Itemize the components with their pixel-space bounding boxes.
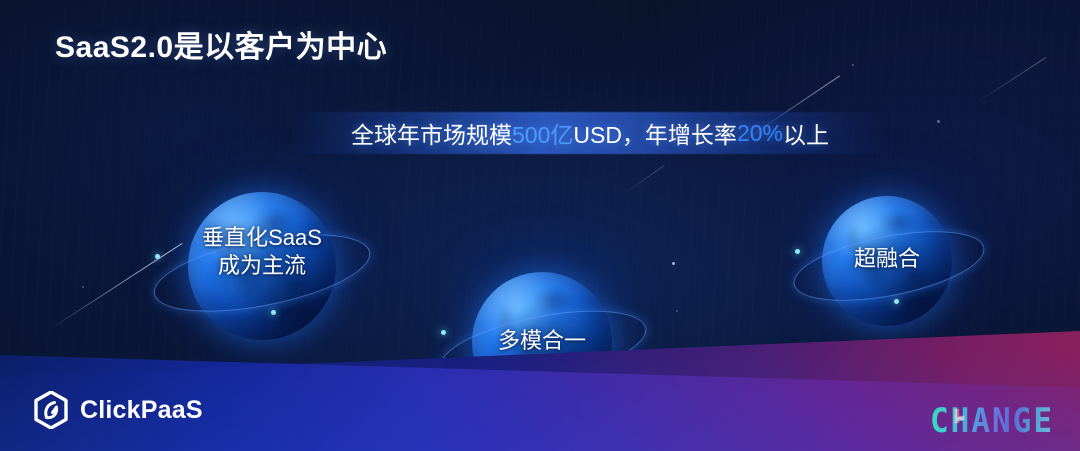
star-dot-icon [676,310,678,312]
banner-highlight-rate: 20% [737,120,783,147]
globe-terminator [822,196,952,326]
banner-middle: USD，年增长率 [573,116,737,150]
orbit-node-icon [155,254,160,259]
globe-sphere [472,272,612,412]
orbit-node-icon [271,310,276,315]
star-dot-icon [82,286,84,288]
banner-text: 全球年市场规模 500亿USD，年增长率20%以上 [290,112,890,154]
brand-logo[interactable]: ClickPaaS [34,391,203,429]
hexagon-logo-icon [34,391,68,429]
brand-logo-text: ClickPaaS [80,396,203,425]
meteor-streak-icon [48,243,183,331]
meteor-streak-icon [620,165,665,197]
star-dot-icon [672,262,675,265]
globe-multi-mode[interactable] [472,272,612,412]
banner-prefix: 全球年市场规模 [351,116,512,150]
slide-canvas: SaaS2.0是以客户为中心 全球年市场规模 500亿USD，年增长率20%以上… [0,0,1080,451]
meteor-streak-icon [972,57,1046,106]
orbit-node-icon [550,384,555,389]
globe-hyper-converged[interactable] [822,196,952,326]
star-dot-icon [937,120,940,123]
globe-sphere [188,192,336,340]
globe-terminator [472,272,612,412]
globe-vertical-saas[interactable] [188,192,336,340]
banner-highlight-amount: 500亿 [512,116,573,150]
change-watermark: CHANGE [930,401,1054,441]
orbit-node-icon [441,330,446,335]
orbit-node-icon [795,249,800,254]
globe-terminator [188,192,336,340]
orbit-node-icon [894,299,899,304]
star-dot-icon [852,64,854,66]
page-title: SaaS2.0是以客户为中心 [55,22,387,66]
banner-suffix: 以上 [783,116,829,150]
globe-sphere [822,196,952,326]
